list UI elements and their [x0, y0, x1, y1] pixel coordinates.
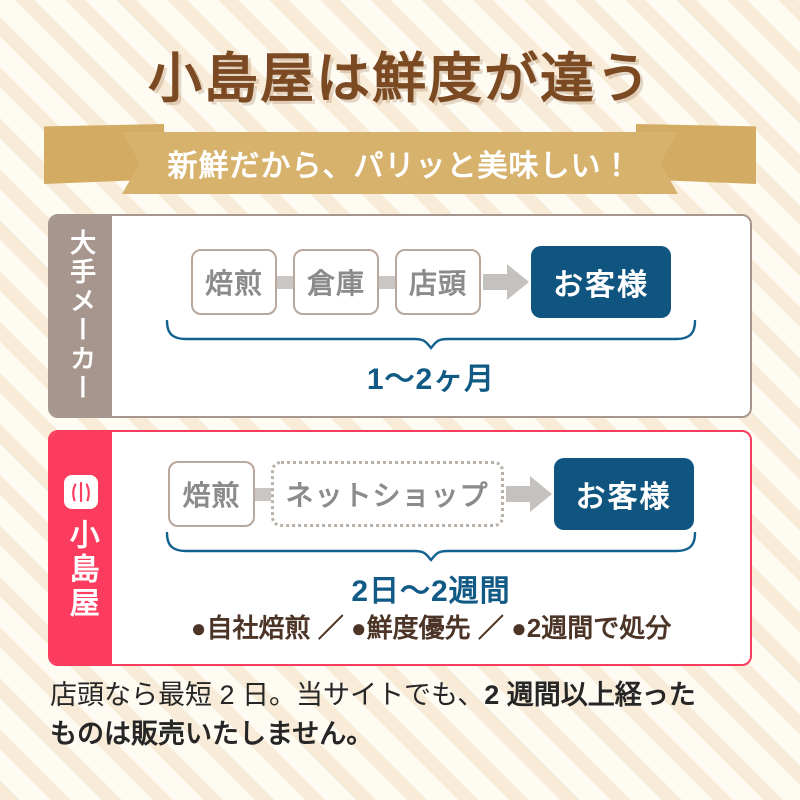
ribbon-banner: 新鮮だから、パリッと美味しい！: [44, 122, 756, 194]
comparison-card-kojimaya: 小島屋 焙煎 ネットショップ お客様 2日〜2週間 ●自社焙煎: [48, 430, 752, 666]
flow-connector-icon: [379, 276, 395, 289]
card-side-label-maker: 大手メーカー: [67, 229, 94, 403]
flow-step-netshop: ネットショップ: [271, 461, 504, 527]
flow-step-warehouse: 倉庫: [293, 249, 379, 315]
card-body-kojimaya: 焙煎 ネットショップ お客様 2日〜2週間 ●自社焙煎 ／ ●鮮度優先 ／ ●2…: [112, 432, 750, 664]
card-side-kojimaya: 小島屋: [50, 432, 112, 664]
kojimaya-seal-icon: [64, 475, 98, 509]
infographic-page: 小島屋は鮮度が違う 新鮮だから、パリッと美味しい！ 大手メーカー 焙煎 倉庫 店…: [0, 0, 800, 800]
flow-step-roast-maker: 焙煎: [191, 249, 277, 315]
right-arrow-icon: [506, 474, 552, 514]
flow-row-maker: 焙煎 倉庫 店頭 お客様: [112, 246, 750, 318]
page-title: 小島屋は鮮度が違う: [0, 34, 800, 113]
footnote-line1-strong: 2 週間以上経った: [484, 680, 696, 710]
flow-connector-icon: [277, 276, 293, 289]
duration-brace-kojimaya: [164, 532, 698, 562]
flow-step-storefront: 店頭: [395, 249, 481, 315]
right-arrow-icon: [483, 262, 529, 302]
card-side-label-kojimaya: 小島屋: [65, 519, 97, 621]
card-side-maker: 大手メーカー: [50, 216, 112, 416]
duration-label-maker: 1〜2ヶ月: [112, 354, 750, 398]
flow-connector-icon: [255, 488, 271, 501]
footnote: 店頭なら最短 2 日。当サイトでも、2 週間以上経った ものは販売いたしません。: [50, 676, 766, 754]
ribbon-body: 新鮮だから、パリッと美味しい！: [122, 132, 678, 194]
card-body-maker: 焙煎 倉庫 店頭 お客様 1〜2ヶ月: [112, 216, 750, 416]
footnote-line2: ものは販売いたしません。: [50, 719, 373, 749]
ribbon-text: 新鮮だから、パリッと美味しい！: [168, 141, 633, 185]
duration-brace-maker: [164, 320, 698, 350]
flow-step-customer-maker: お客様: [531, 246, 671, 318]
comparison-card-maker: 大手メーカー 焙煎 倉庫 店頭 お客様 1: [48, 214, 752, 418]
feature-list: ●自社焙煎 ／ ●鮮度優先 ／ ●2週間で処分: [112, 608, 750, 645]
footnote-line1-normal: 店頭なら最短 2 日。当サイトでも、: [50, 680, 484, 710]
duration-label-kojimaya: 2日〜2週間: [112, 566, 750, 610]
flow-step-customer-kojimaya: お客様: [554, 458, 694, 530]
flow-row-kojimaya: 焙煎 ネットショップ お客様: [112, 458, 750, 530]
flow-step-roast-kojimaya: 焙煎: [168, 461, 254, 527]
